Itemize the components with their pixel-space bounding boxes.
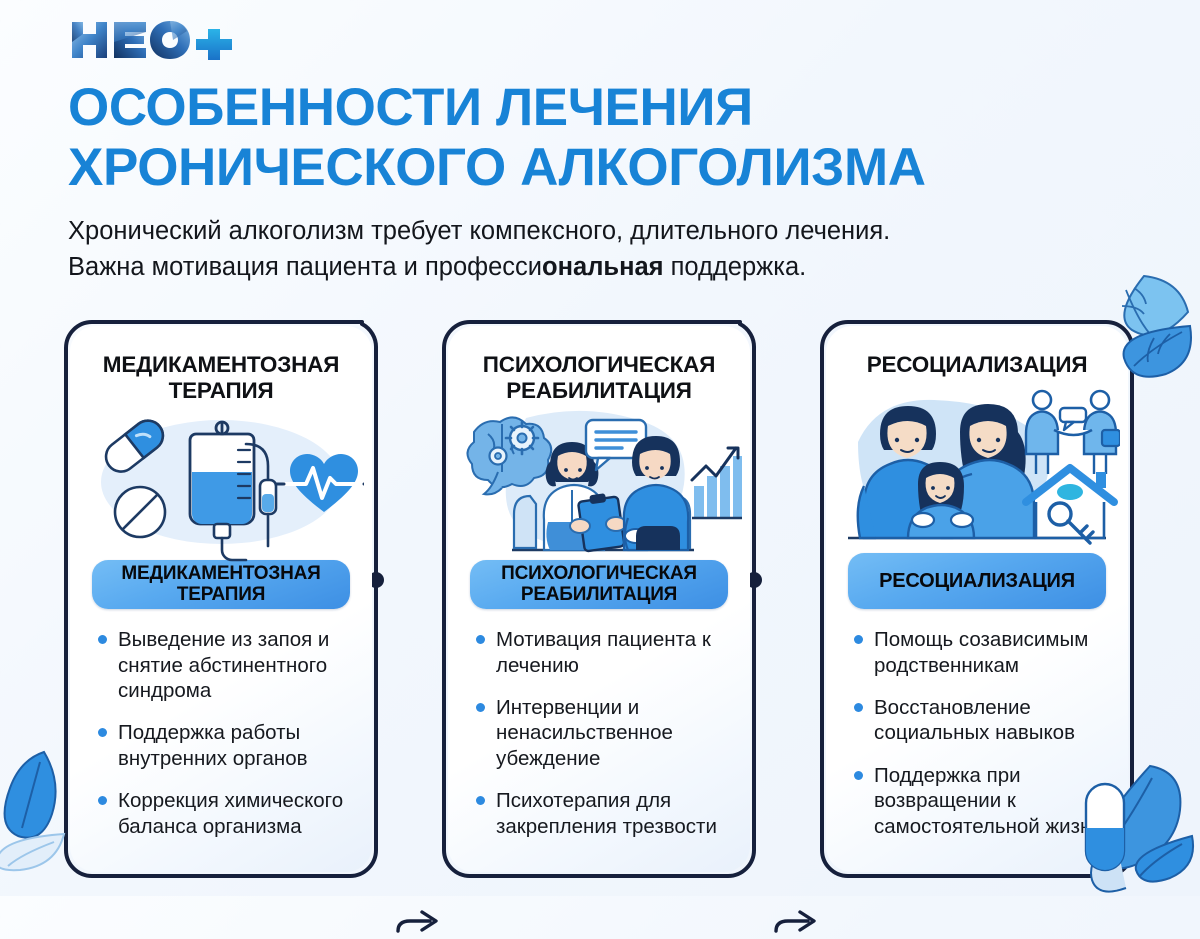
- list-item: Выведение из запоя и снятие абстинентног…: [96, 627, 352, 703]
- arrow-card2-to-card3-icon: [774, 893, 820, 939]
- brand-logo: [68, 16, 238, 64]
- page-title-line-2: ХРОНИЧЕСКОГО АЛКОГОЛИЗМА: [68, 138, 1158, 198]
- subtitle-line-2-part-c: поддержка.: [664, 253, 807, 281]
- list-item: Коррекция химического баланса организма: [96, 788, 352, 839]
- list-item: Восстановление социальных навыков: [852, 695, 1108, 746]
- subtitle-line-1: Хронический алкоголизм требует компексно…: [68, 217, 890, 245]
- card-inner-1: МЕДИКАМЕНТОЗНАЯ ТЕРАПИЯ: [70, 326, 372, 872]
- card-inner-3: РЕСОЦИАЛИЗАЦИЯ: [826, 326, 1128, 872]
- card-inner-2: ПСИХОЛОГИЧЕСКАЯ РЕАБИЛИТАЦИЯ: [448, 326, 750, 872]
- card-medication-therapy[interactable]: МЕДИКАМЕНТОЗНАЯ ТЕРАПИЯ: [62, 318, 380, 880]
- iv-drip-pills-heart-icon: [86, 411, 356, 554]
- page-title: ОСОБЕННОСТИ ЛЕЧЕНИЯ ХРОНИЧЕСКОГО АЛКОГОЛ…: [68, 78, 1158, 198]
- list-item: Психотерапия для закрепления трезвости: [474, 788, 730, 839]
- list-item: Мотивация пациента к лечению: [474, 627, 730, 678]
- list-item: Поддержка при возвращении к самостоятель…: [852, 763, 1108, 839]
- card-heading-3: РЕСОЦИАЛИЗАЦИЯ: [842, 352, 1112, 378]
- list-item: Интервенции и ненасильственное убеждение: [474, 695, 730, 771]
- treatment-cards-row: МЕДИКАМЕНТОЗНАЯ ТЕРАПИЯ: [0, 318, 1200, 888]
- page-title-line-1: ОСОБЕННОСТИ ЛЕЧЕНИЯ: [68, 78, 753, 137]
- card-resocialization[interactable]: РЕСОЦИАЛИЗАЦИЯ: [818, 318, 1136, 880]
- list-item: Поддержка работы внутренних органов: [96, 720, 352, 771]
- family-handshake-house-icon: [842, 384, 1112, 547]
- page-subtitle: Хронический алкоголизм требует компексно…: [68, 213, 1068, 285]
- card-pill-label-2[interactable]: ПСИХОЛОГИЧЕСКАЯ РЕАБИЛИТАЦИЯ: [470, 560, 728, 609]
- therapist-patient-brain-chart-icon: [464, 411, 734, 554]
- arrow-card1-to-card2-icon: [396, 893, 442, 939]
- card-pill-label-1[interactable]: МЕДИКАМЕНТОЗНАЯ ТЕРАПИЯ: [92, 560, 350, 609]
- card-bullets-3: Помощь созависимым родственникам Восстан…: [852, 627, 1108, 856]
- card-heading-2: ПСИХОЛОГИЧЕСКАЯ РЕАБИЛИТАЦИЯ: [464, 352, 734, 405]
- card-bullets-2: Мотивация пациента к лечению Интервенции…: [474, 627, 730, 856]
- subtitle-line-2-bold: ональная: [542, 253, 664, 281]
- card-bullets-1: Выведение из запоя и снятие абстинентног…: [96, 627, 352, 856]
- card-heading-1: МЕДИКАМЕНТОЗНАЯ ТЕРАПИЯ: [86, 352, 356, 405]
- card-psychological-rehab[interactable]: ПСИХОЛОГИЧЕСКАЯ РЕАБИЛИТАЦИЯ: [440, 318, 758, 880]
- subtitle-line-2-part-a: Важна мотивация пациента и професси: [68, 253, 542, 281]
- list-item: Помощь созависимым родственникам: [852, 627, 1108, 678]
- card-pill-label-3[interactable]: РЕСОЦИАЛИЗАЦИЯ: [848, 553, 1106, 609]
